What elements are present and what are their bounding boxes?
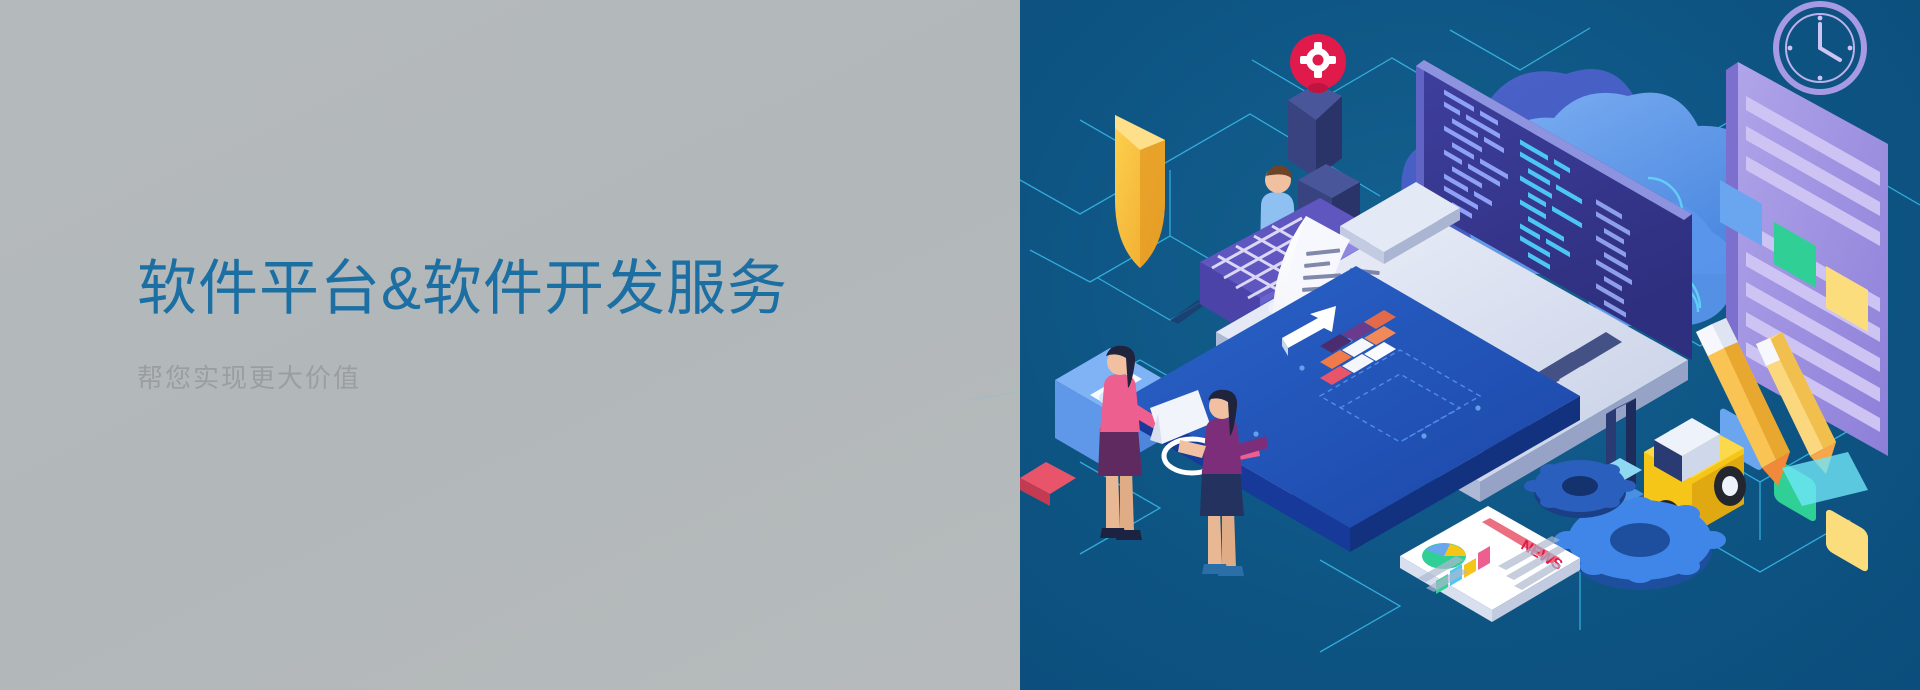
- page-title: 软件平台&软件开发服务: [137, 255, 788, 322]
- shield-icon: [1115, 115, 1165, 268]
- hero-text-block: 软件平台&软件开发服务 帮您实现更大价值: [137, 255, 788, 395]
- gear-badge-icon: [1290, 34, 1346, 93]
- news-card: NEWS: [1400, 506, 1580, 622]
- illustration-container: NEWS: [1020, 0, 1920, 690]
- clock-icon: [1776, 4, 1864, 92]
- illustration-svg: NEWS: [1020, 0, 1920, 690]
- mini-card-pink: [1020, 462, 1076, 506]
- hero-banner: NEWS: [0, 0, 1920, 690]
- page-subtitle: 帮您实现更大价值: [137, 358, 788, 395]
